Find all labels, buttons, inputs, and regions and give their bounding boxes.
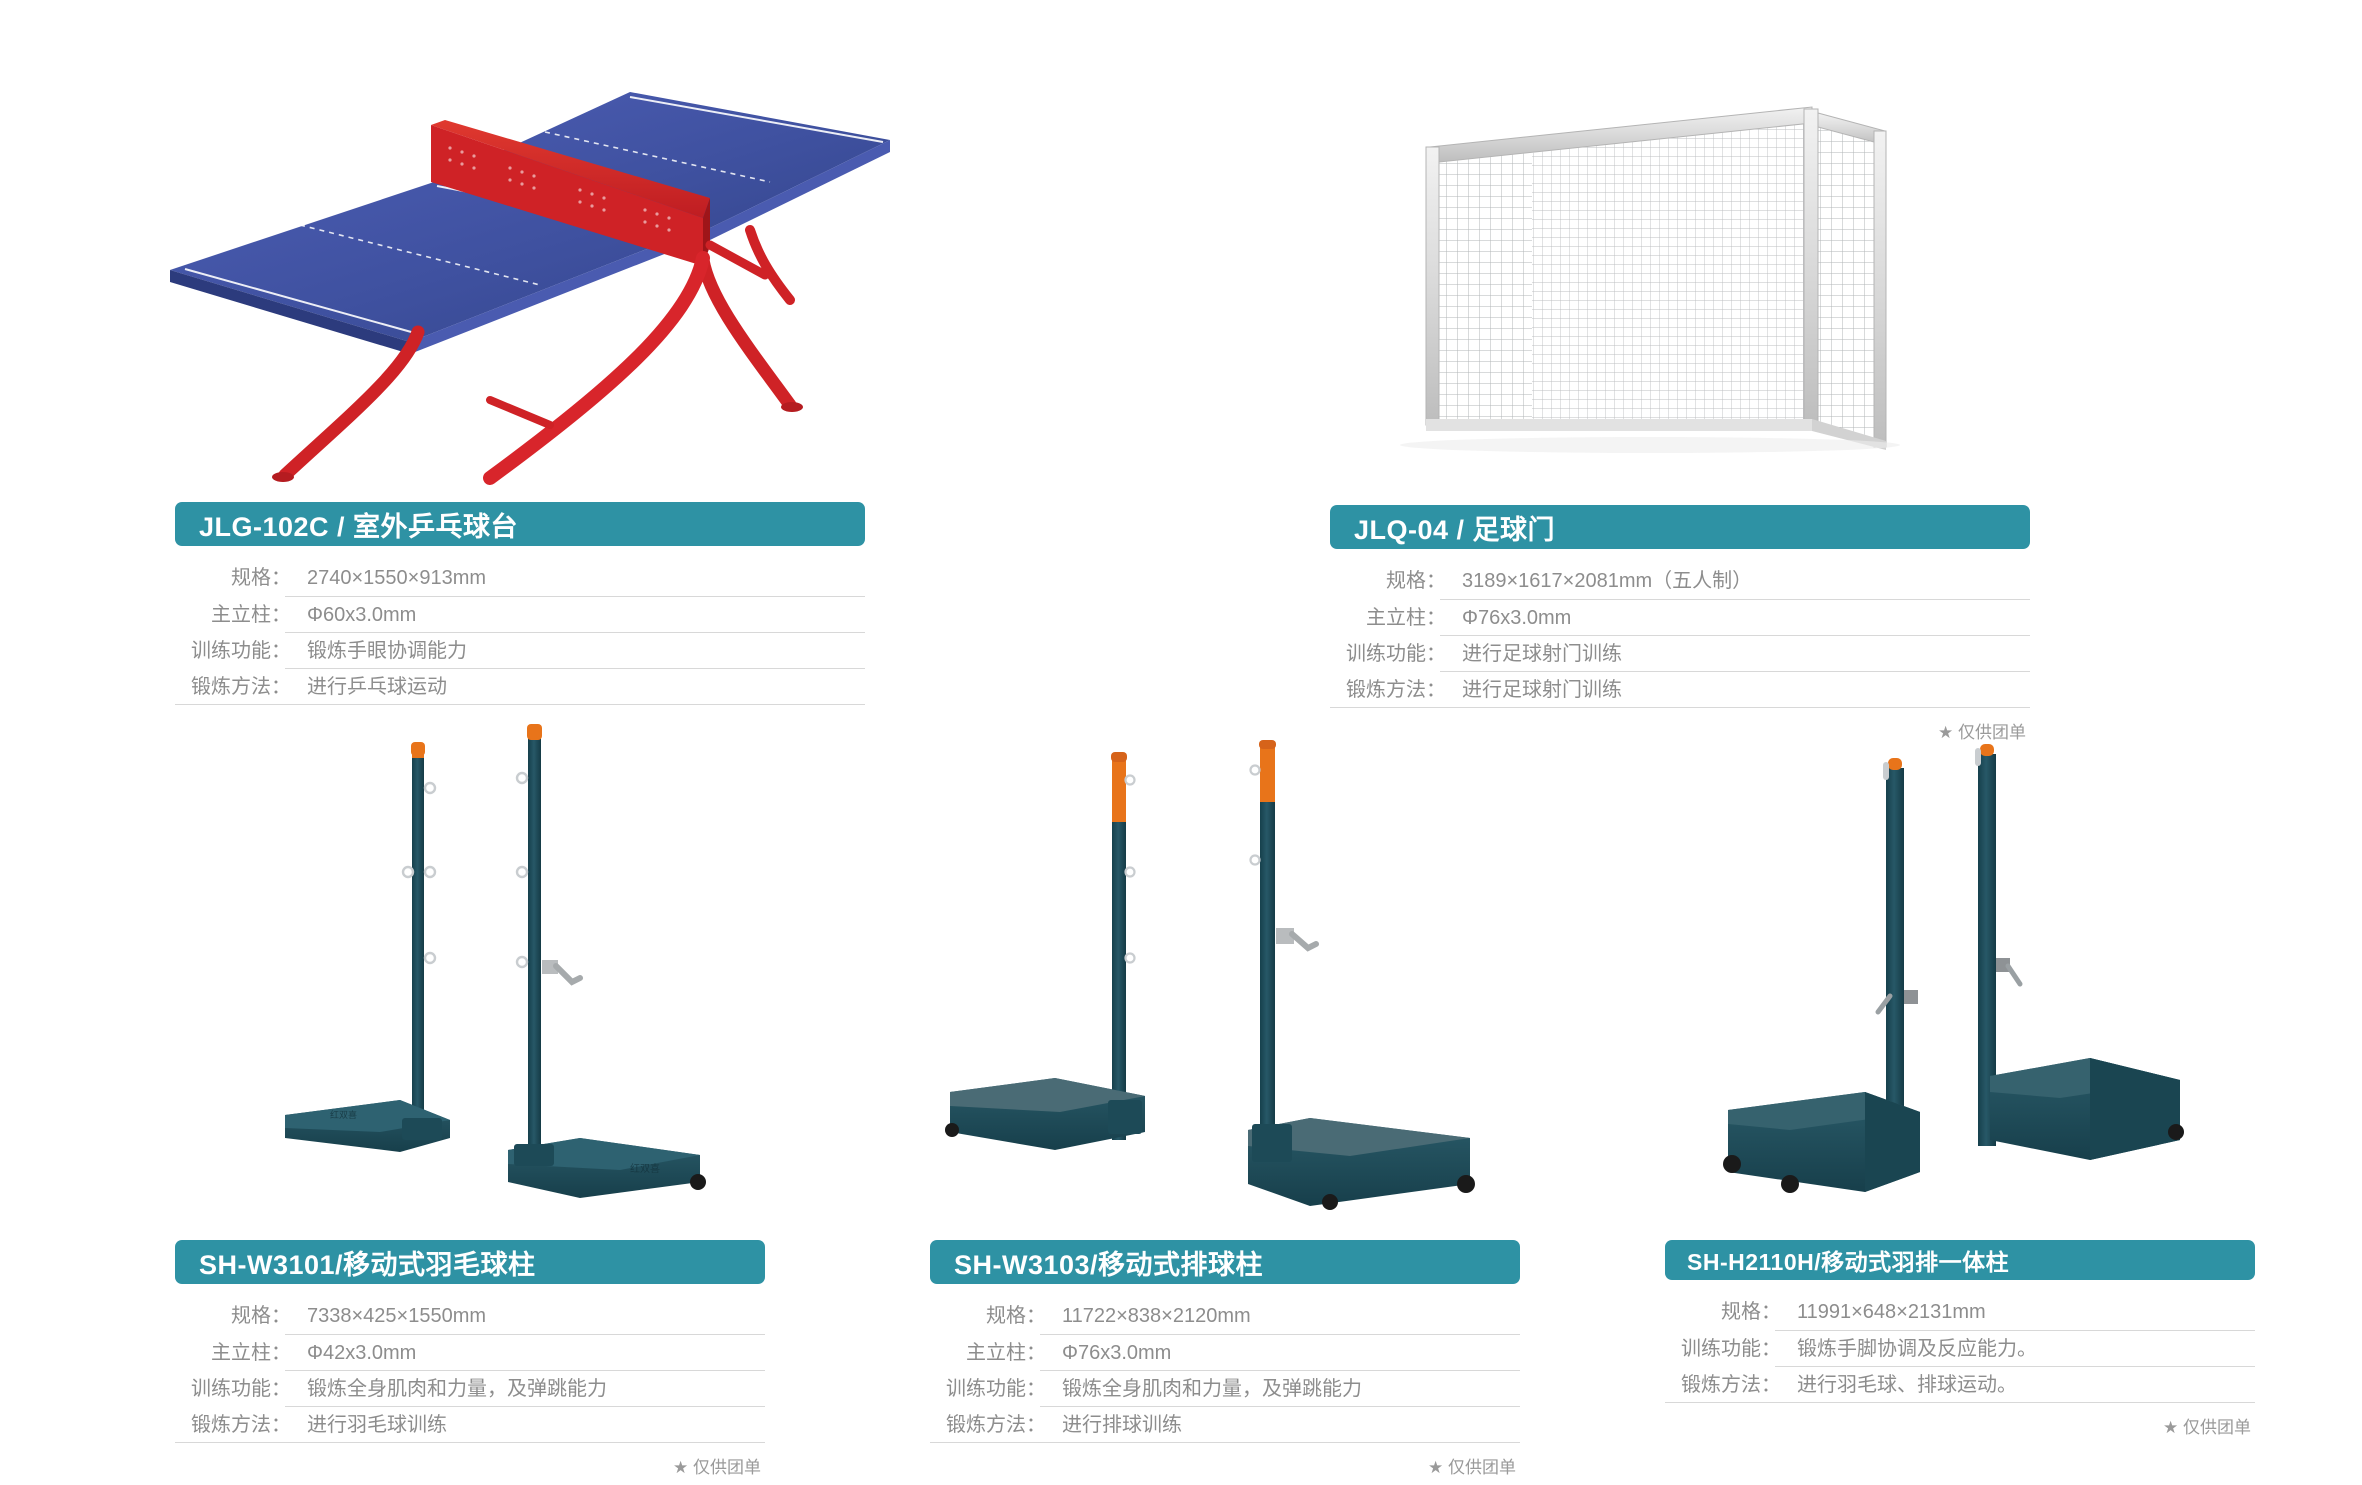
spec-row: 训练功能： 锻炼手脚协调及反应能力。 [1665,1330,2255,1366]
spec-label: 训练功能： [1346,643,1446,665]
spec-row: 规格： 11991×648×2131mm [1665,1294,2255,1330]
spec-row: 规格： 3189×1617×2081mm（五人制） [1330,563,2030,599]
spec-row: 训练功能： 锻炼手眼协调能力 [175,632,865,668]
spec-row: 主立柱： Φ60x3.0mm [175,596,865,632]
spec-row: 锻炼方法： 进行羽毛球训练 [175,1406,765,1442]
spec-label: 训练功能： [191,1378,291,1400]
spec-value: 锻炼手脚协调及反应能力。 [1791,1331,2255,1367]
spec-value: Φ76x3.0mm [1456,600,2030,636]
spec-label: 锻炼方法： [1681,1374,1781,1396]
spec-row: 锻炼方法： 进行排球训练 [930,1406,1520,1442]
spec-table-sh-w3101: 规格： 7338×425×1550mm 主立柱： Φ42x3.0mm 训练功能：… [175,1298,765,1478]
spec-row: 规格： 2740×1550×913mm [175,560,865,596]
group-order-footnote: ★ 仅供团单 [930,1443,1520,1478]
product-title-sh-h2110h: SH-H2110H/移动式羽排一体柱 [1665,1240,2255,1280]
spec-label: 规格： [231,567,291,589]
product-card-jlq-04: JLQ-04 / 足球门 规格： 3189×1617×2081mm（五人制） 主… [1330,505,2030,743]
spec-value: 进行羽毛球训练 [301,1407,765,1443]
spec-table-jlq-04: 规格： 3189×1617×2081mm（五人制） 主立柱： Φ76x3.0mm… [1330,563,2030,743]
svg-text:红双喜: 红双喜 [330,1109,357,1120]
group-order-footnote: ★ 仅供团单 [175,1443,765,1478]
soccer-goal-photo [1380,75,1940,450]
spec-value: 7338×425×1550mm [301,1298,765,1334]
spec-value: 锻炼手眼协调能力 [301,633,865,669]
spec-value: 3189×1617×2081mm（五人制） [1456,563,2030,599]
product-title-jlg-102c: JLG-102C / 室外乒乓球台 [175,502,865,546]
spec-label: 规格： [1721,1301,1781,1323]
group-order-footnote: ★ 仅供团单 [1665,1403,2255,1438]
spec-label: 主立柱： [211,1342,291,1364]
spec-value: Φ76x3.0mm [1056,1335,1520,1371]
spec-value: 11991×648×2131mm [1791,1294,2255,1330]
spec-value: 进行足球射门训练 [1456,636,2030,672]
spec-label: 训练功能： [191,640,291,662]
spec-value: Φ60x3.0mm [301,597,865,633]
outdoor-table-tennis-table-photo: 红双喜 [150,70,910,480]
spec-row: 训练功能： 锻炼全身肌肉和力量，及弹跳能力 [930,1370,1520,1406]
spec-value: 进行羽毛球、排球运动。 [1791,1367,2255,1403]
spec-row: 锻炼方法： 进行足球射门训练 [1330,671,2030,707]
spec-value: 11722×838×2120mm [1056,1298,1520,1334]
spec-row: 训练功能： 进行足球射门训练 [1330,635,2030,671]
mobile-volleyball-post-photo [930,740,1490,1220]
spec-label: 规格： [1386,570,1446,592]
spec-label: 主立柱： [1366,607,1446,629]
spec-row: 主立柱： Φ76x3.0mm [1330,599,2030,635]
spec-row: 训练功能： 锻炼全身肌肉和力量，及弹跳能力 [175,1370,765,1406]
product-card-sh-w3101: SH-W3101/移动式羽毛球柱 规格： 7338×425×1550mm 主立柱… [175,1240,765,1478]
spec-label: 锻炼方法： [191,676,291,698]
mobile-badminton-post-photo: 红双喜 红双喜 [250,720,750,1220]
spec-value: Φ42x3.0mm [301,1335,765,1371]
spec-value: 进行足球射门训练 [1456,672,2030,708]
mobile-badminton-volleyball-combo-post-photo [1690,740,2250,1220]
spec-row: 规格： 11722×838×2120mm [930,1298,1520,1334]
spec-label: 规格： [231,1305,291,1327]
spec-table-sh-w3103: 规格： 11722×838×2120mm 主立柱： Φ76x3.0mm 训练功能… [930,1298,1520,1478]
product-title-sh-w3101: SH-W3101/移动式羽毛球柱 [175,1240,765,1284]
product-card-jlg-102c: JLG-102C / 室外乒乓球台 规格： 2740×1550×913mm 主立… [175,502,865,705]
spec-row: 主立柱： Φ76x3.0mm [930,1334,1520,1370]
spec-label: 规格： [986,1305,1046,1327]
spec-row: 锻炼方法： 进行乒乓球运动 [175,668,865,704]
spec-row: 主立柱： Φ42x3.0mm [175,1334,765,1370]
spec-table-jlg-102c: 规格： 2740×1550×913mm 主立柱： Φ60x3.0mm 训练功能：… [175,560,865,705]
spec-label: 主立柱： [211,604,291,626]
svg-text:红双喜: 红双喜 [630,300,663,313]
spec-table-sh-h2110h: 规格： 11991×648×2131mm 训练功能： 锻炼手脚协调及反应能力。 … [1665,1294,2255,1438]
spec-label: 主立柱： [966,1342,1046,1364]
group-order-footnote: ★ 仅供团单 [1330,708,2030,743]
spec-value: 进行乒乓球运动 [301,669,865,705]
spec-row: 规格： 7338×425×1550mm [175,1298,765,1334]
product-card-sh-h2110h: SH-H2110H/移动式羽排一体柱 规格： 11991×648×2131mm … [1665,1240,2255,1438]
spec-label: 锻炼方法： [191,1414,291,1436]
spec-label: 锻炼方法： [1346,679,1446,701]
spec-label: 训练功能： [1681,1338,1781,1360]
product-card-sh-w3103: SH-W3103/移动式排球柱 规格： 11722×838×2120mm 主立柱… [930,1240,1520,1478]
spec-value: 锻炼全身肌肉和力量，及弹跳能力 [301,1371,765,1407]
svg-text:红双喜: 红双喜 [630,1162,660,1175]
spec-row: 锻炼方法： 进行羽毛球、排球运动。 [1665,1366,2255,1402]
spec-label: 训练功能： [946,1378,1046,1400]
spec-value: 锻炼全身肌肉和力量，及弹跳能力 [1056,1371,1520,1407]
spec-label: 锻炼方法： [946,1414,1046,1436]
product-title-sh-w3103: SH-W3103/移动式排球柱 [930,1240,1520,1284]
product-catalog-page: 红双喜 [0,0,2362,1485]
spec-value: 进行排球训练 [1056,1407,1520,1443]
product-title-jlq-04: JLQ-04 / 足球门 [1330,505,2030,549]
spec-value: 2740×1550×913mm [301,560,865,596]
